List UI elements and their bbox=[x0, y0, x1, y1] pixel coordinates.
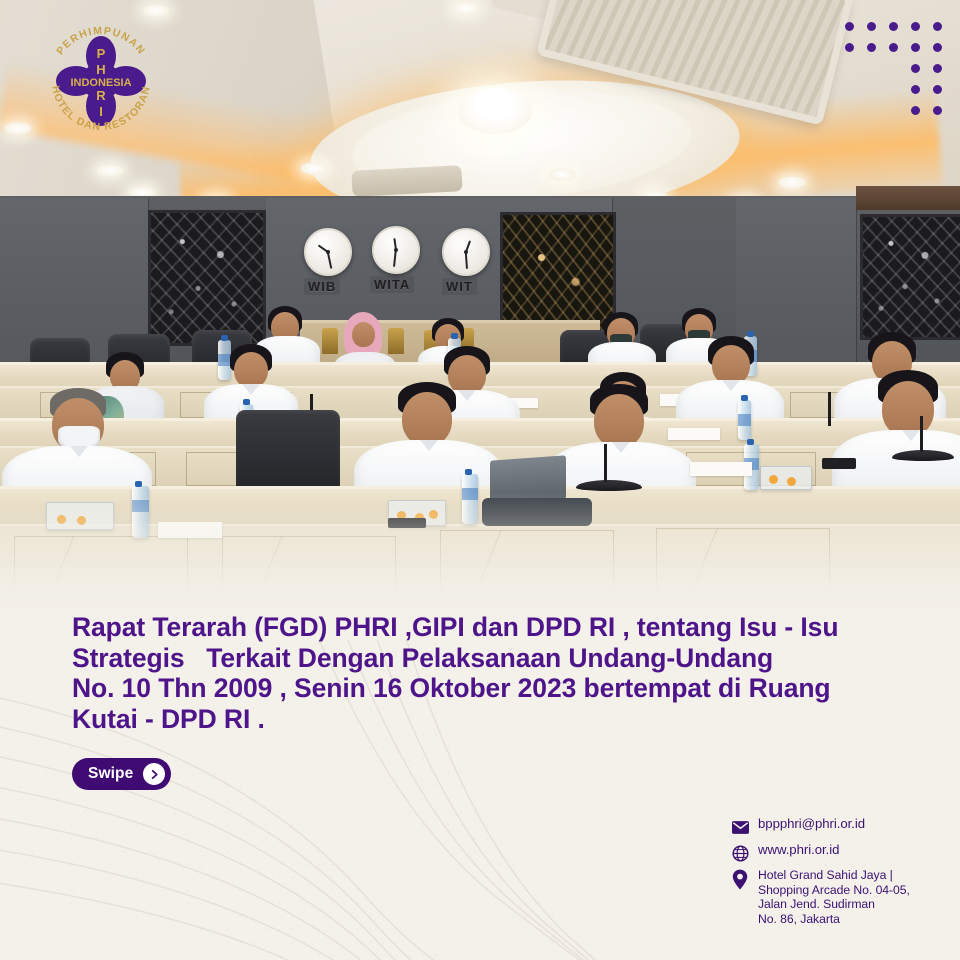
logo-letter-i: I bbox=[99, 104, 103, 119]
address-line-4: No. 86, Jakarta bbox=[758, 912, 910, 927]
wall-clock-wib bbox=[304, 228, 352, 276]
phri-social-post: WIB WITA WIT bbox=[0, 0, 960, 960]
chevron-right-icon bbox=[143, 763, 165, 785]
wall-clock-wit bbox=[442, 228, 490, 276]
contact-email-row[interactable]: bppphri@phri.or.id bbox=[730, 816, 954, 837]
globe-icon bbox=[730, 843, 750, 863]
downlight bbox=[142, 4, 170, 17]
clock-label-wit: WIT bbox=[442, 278, 477, 295]
microphone bbox=[920, 416, 923, 452]
swipe-button[interactable]: Swipe bbox=[72, 758, 171, 790]
contact-website-text: www.phri.or.id bbox=[758, 842, 839, 858]
logo-letter-h: H bbox=[96, 62, 105, 77]
swipe-label: Swipe bbox=[88, 765, 133, 783]
trophy bbox=[322, 328, 338, 354]
document bbox=[690, 462, 752, 476]
logo-center-text: INDONESIA bbox=[70, 77, 131, 89]
downlight bbox=[452, 2, 480, 15]
decorative-dot-grid bbox=[845, 22, 945, 118]
ceiling-dome-light bbox=[458, 88, 532, 134]
contact-address-row: Hotel Grand Sahid Jaya | Shopping Arcade… bbox=[730, 868, 954, 926]
clock-label-wib: WIB bbox=[304, 278, 340, 295]
microphone bbox=[604, 444, 607, 482]
document bbox=[668, 428, 720, 440]
headline: Rapat Terarah (FGD) PHRI ,GIPI dan DPD R… bbox=[72, 612, 902, 734]
microphone-base bbox=[576, 480, 642, 491]
downlight bbox=[300, 162, 328, 175]
downlight bbox=[4, 122, 32, 135]
carved-art-panel-far-right bbox=[860, 214, 960, 340]
address-line-1: Hotel Grand Sahid Jaya | bbox=[758, 868, 910, 883]
downlight bbox=[548, 168, 576, 181]
logo-letter-p: P bbox=[97, 46, 106, 61]
downlight bbox=[778, 176, 806, 189]
wall-clock-wita bbox=[372, 226, 420, 274]
water-bottle bbox=[738, 400, 751, 440]
trophy bbox=[388, 328, 404, 354]
carved-art-panel-left bbox=[148, 210, 266, 346]
address-line-2: Shopping Arcade No. 04-05, bbox=[758, 883, 910, 898]
downlight bbox=[96, 164, 124, 177]
headline-line-3: No. 10 Thn 2009 , Senin 16 Oktober 2023 … bbox=[72, 673, 902, 704]
clock-label-wita: WITA bbox=[370, 276, 414, 293]
contact-email-text: bppphri@phri.or.id bbox=[758, 816, 865, 832]
headline-line-1: Rapat Terarah (FGD) PHRI ,GIPI dan DPD R… bbox=[72, 612, 902, 643]
photo-bottom-fade bbox=[0, 492, 960, 612]
contact-block: bppphri@phri.or.id www.phri.or.id bbox=[730, 816, 954, 931]
snack-box bbox=[760, 466, 812, 490]
address-line-3: Jalan Jend. Sudirman bbox=[758, 897, 910, 912]
logo-letter-r: R bbox=[96, 88, 106, 103]
phri-logo: P H R I INDONESIA PERHIMPUNAN HOTEL DAN … bbox=[38, 18, 164, 144]
map-pin-icon bbox=[730, 869, 750, 889]
contact-website-row[interactable]: www.phri.or.id bbox=[730, 842, 954, 863]
microphone-base bbox=[892, 450, 954, 461]
headline-line-2: Strategis Terkait Dengan Pelaksanaan Und… bbox=[72, 643, 902, 674]
microphone bbox=[828, 392, 831, 426]
contact-address-text: Hotel Grand Sahid Jaya | Shopping Arcade… bbox=[758, 868, 910, 926]
phone bbox=[822, 458, 856, 469]
headline-line-4: Kutai - DPD RI . bbox=[72, 704, 902, 735]
envelope-icon bbox=[730, 817, 750, 837]
wall-wood-trim bbox=[856, 186, 960, 210]
